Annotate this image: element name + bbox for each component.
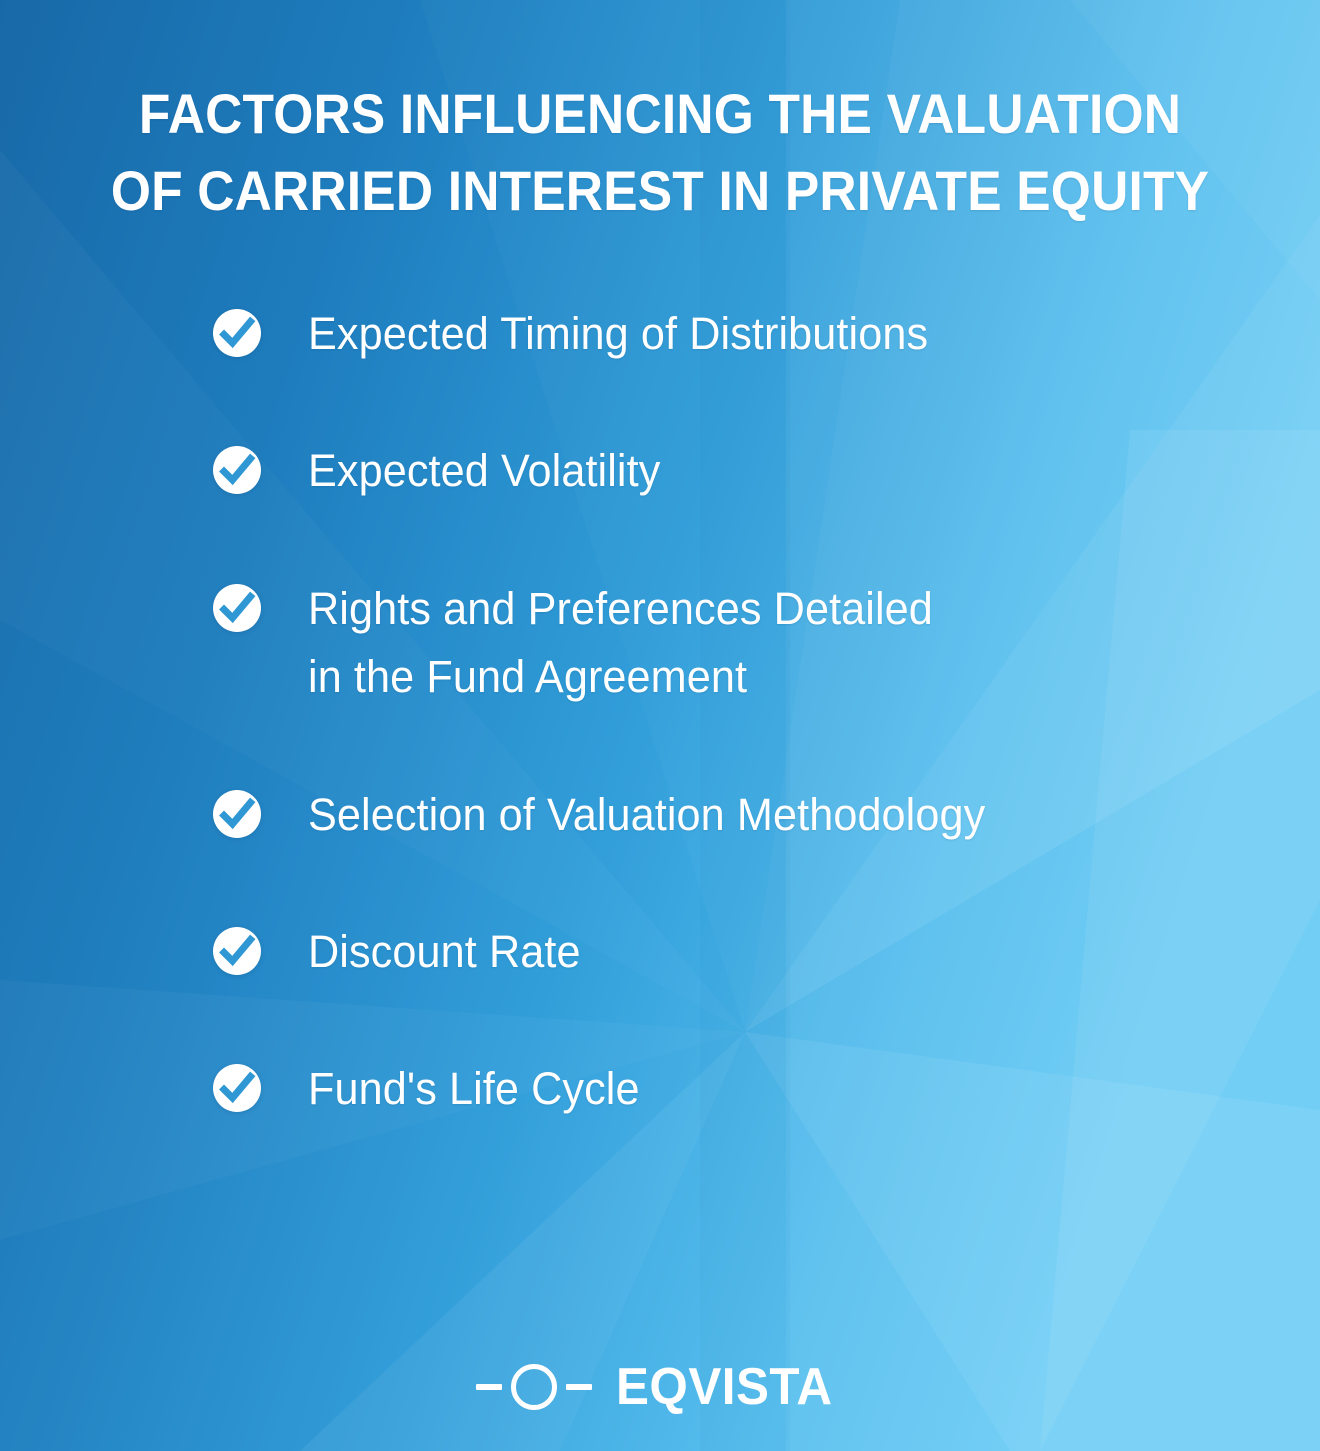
list-item: Selection of Valuation Methodology [212,781,1212,849]
infographic-poster: FACTORS INFLUENCING THE VALUATION OF CAR… [0,0,1320,1451]
list-item-label: Fund's Life Cycle [308,1055,640,1123]
list-item-label: Expected Volatility [308,437,660,505]
logo-wordmark: EQVISTA [616,1361,833,1413]
list-item: Expected Volatility [212,437,1212,505]
factors-checklist: Expected Timing of Distributions Expecte… [212,300,1212,1124]
list-item-label: Rights and Preferences Detailed in the F… [308,575,933,712]
list-item: Expected Timing of Distributions [212,300,1212,368]
check-circle-icon [212,583,262,633]
list-item-label: Selection of Valuation Methodology [308,781,985,849]
logo-circle-icon [511,1364,557,1410]
page-title: FACTORS INFLUENCING THE VALUATION OF CAR… [0,76,1320,229]
list-item: Rights and Preferences Detailed in the F… [212,575,1212,712]
check-circle-icon [212,789,262,839]
eqvista-circle-mark [476,1364,592,1410]
logo-dash-right [566,1384,592,1390]
eqvista-logo: EQVISTA [0,1361,1320,1413]
check-circle-icon [212,926,262,976]
check-circle-icon [212,1063,262,1113]
check-circle-icon [212,308,262,358]
title-line-1: FACTORS INFLUENCING THE VALUATION [90,76,1231,153]
logo-dash-left [476,1384,502,1390]
check-circle-icon [212,445,262,495]
list-item: Discount Rate [212,918,1212,986]
title-line-2: OF CARRIED INTEREST IN PRIVATE EQUITY [90,153,1231,230]
list-item-label: Discount Rate [308,918,581,986]
list-item-label: Expected Timing of Distributions [308,300,928,368]
list-item: Fund's Life Cycle [212,1055,1212,1123]
